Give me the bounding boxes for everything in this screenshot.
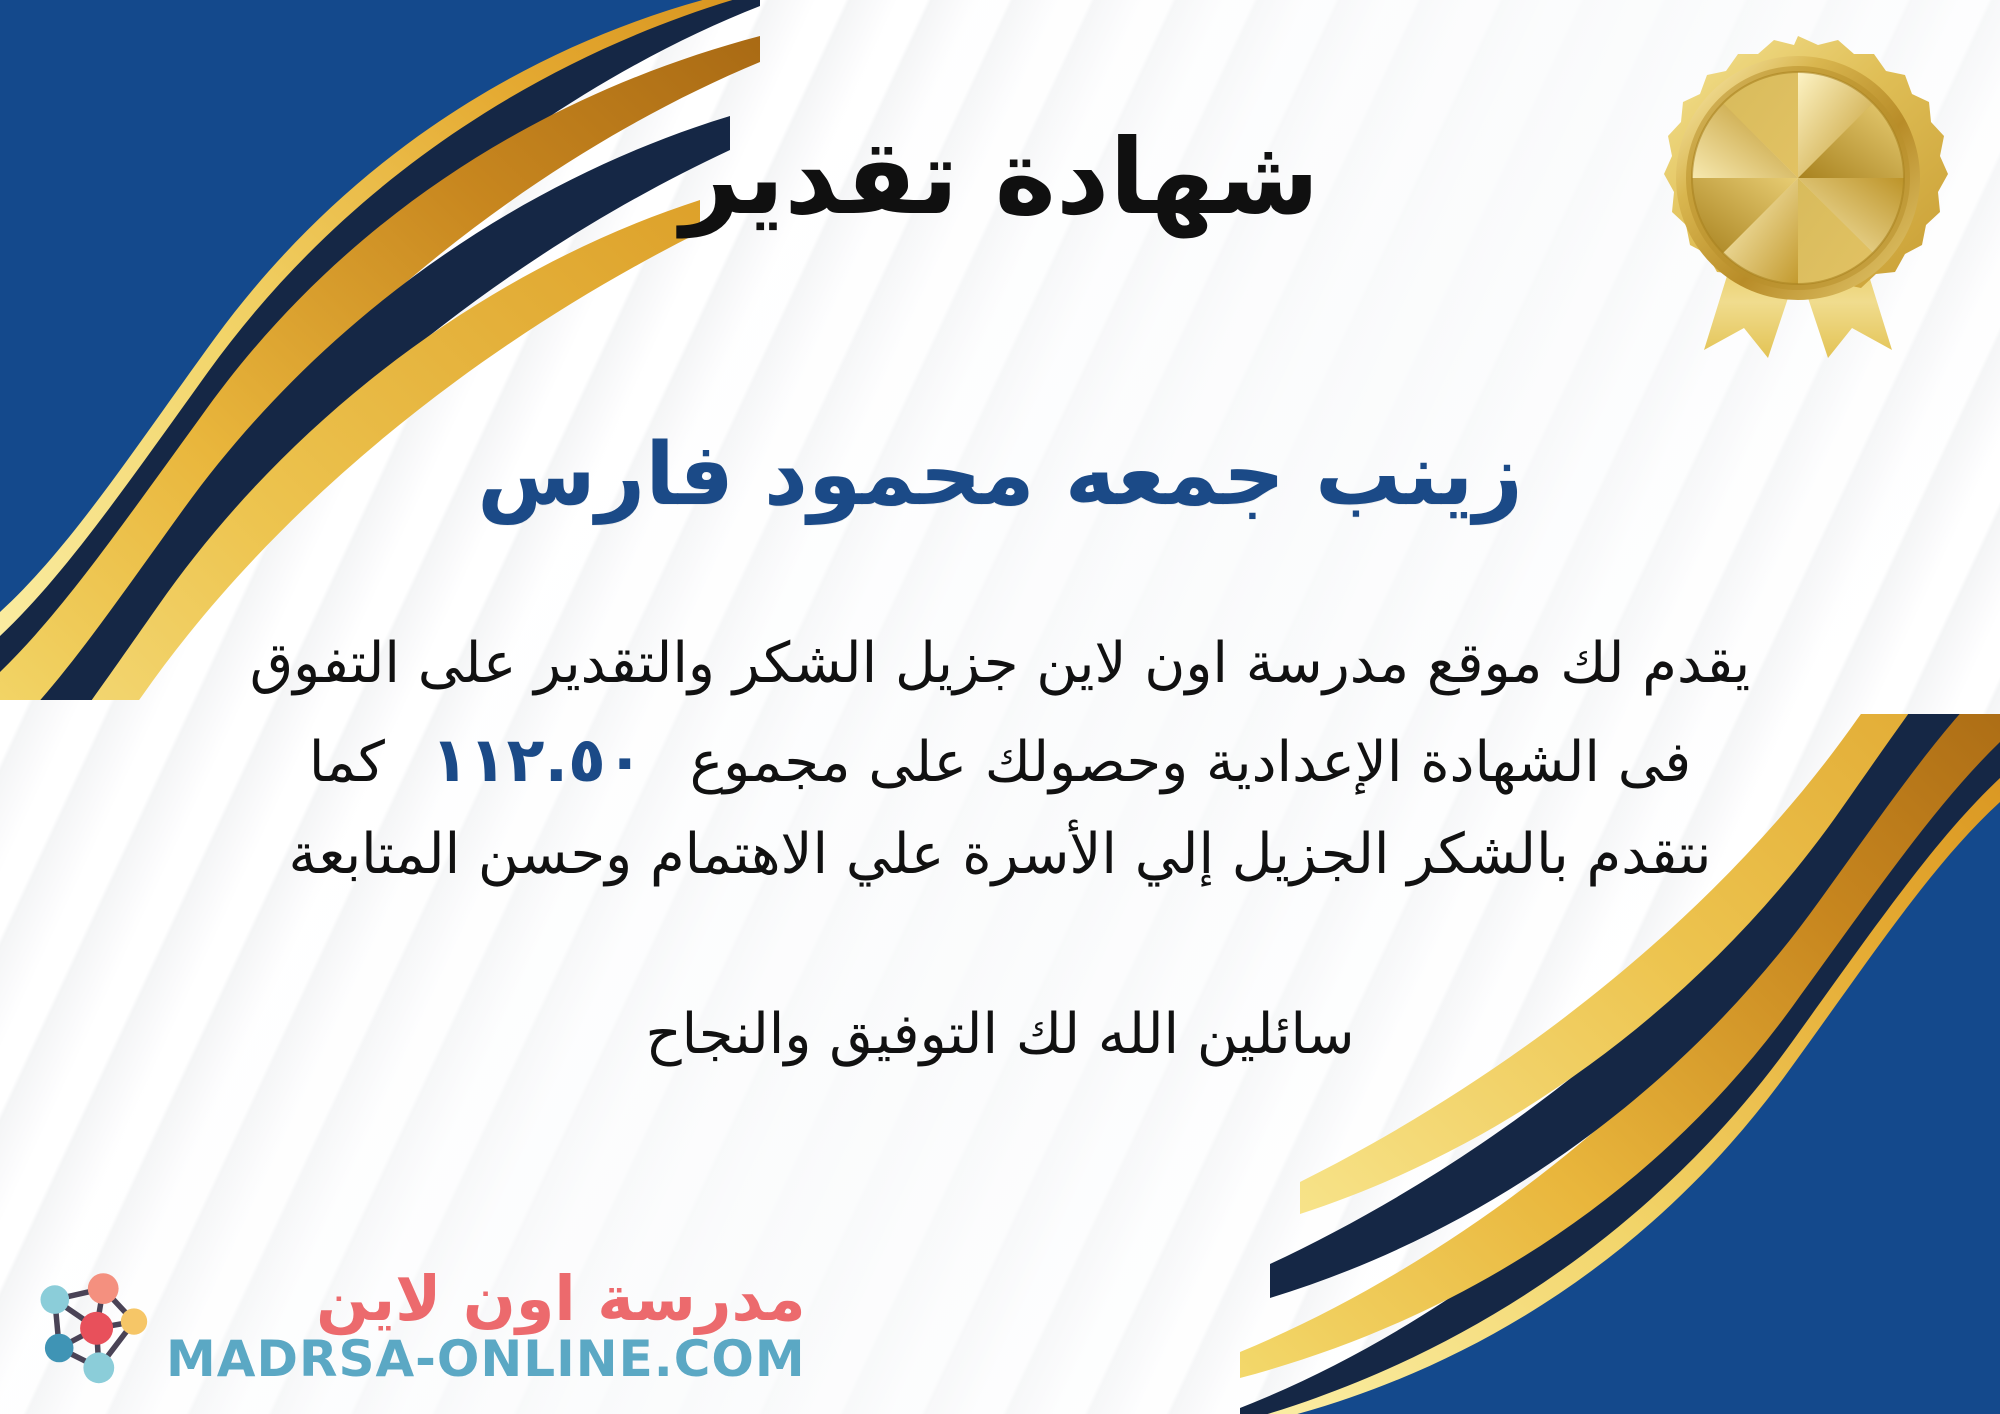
closing-wish-line: سائلين الله لك التوفيق والنجاح: [645, 993, 1354, 1077]
brand-arabic-name: مدرسة اون لاين: [316, 1268, 806, 1330]
body-line-2-left-text: كما: [309, 718, 385, 809]
certificate-canvas: شهادة تقدير زينب جمعه محمود فارس يقدم لك…: [0, 0, 2000, 1414]
body-line-2: فى الشهادة الإعدادية وحصولك على مجموع ١١…: [35, 710, 1965, 810]
total-score-value: ١١٢.٥٠: [431, 710, 644, 810]
body-line-1: يقدم لك موقع مدرسة اون لاين جزيل الشكر و…: [35, 619, 1965, 710]
gold-award-medal-icon: [1648, 28, 1948, 368]
brand-domain: MADRSA-ONLINE.COM: [166, 1334, 806, 1384]
body-line-3: نتقدم بالشكر الجزيل إلي الأسرة علي الاهت…: [35, 810, 1965, 901]
brand-logo: مدرسة اون لاين MADRSA-ONLINE.COM: [24, 1260, 806, 1392]
brand-text: مدرسة اون لاين MADRSA-ONLINE.COM: [166, 1268, 806, 1384]
body-line-2-right-text: فى الشهادة الإعدادية وحصولك على مجموع: [690, 718, 1692, 809]
certificate-body: يقدم لك موقع مدرسة اون لاين جزيل الشكر و…: [35, 619, 1965, 901]
network-nodes-icon: [24, 1260, 156, 1392]
recipient-name: زينب جمعه محمود فارس: [477, 424, 1523, 527]
page-title: شهادة تقدير: [681, 118, 1320, 238]
